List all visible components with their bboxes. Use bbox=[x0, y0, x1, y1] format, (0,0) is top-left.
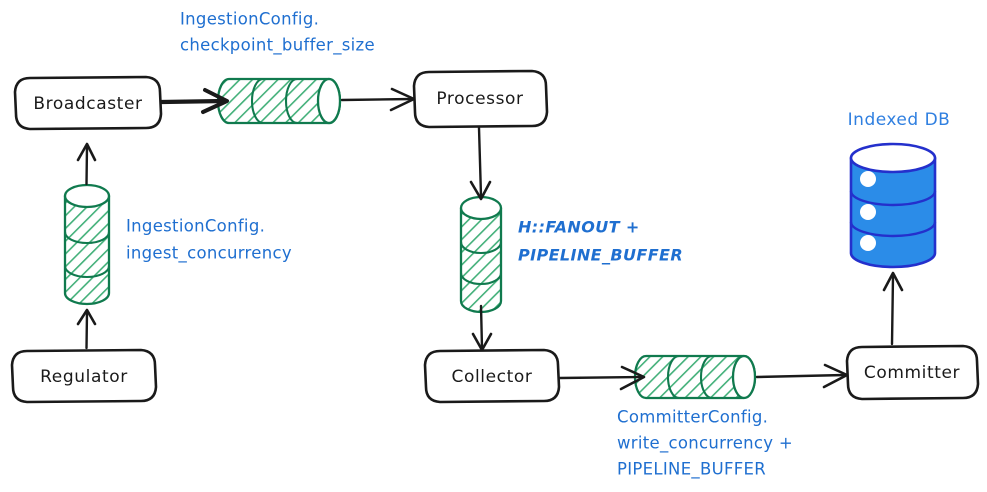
ingest-buffer-top-cap bbox=[65, 185, 109, 207]
buffer-fanout bbox=[461, 197, 501, 312]
annotation-line: IngestionConfig. bbox=[126, 217, 265, 236]
annotation-ingest-concurrency: IngestionConfig. ingest_concurrency bbox=[126, 217, 292, 264]
annotation-line: PIPELINE_BUFFER bbox=[617, 460, 766, 480]
collector-label: Collector bbox=[452, 367, 533, 387]
buffer-write-concurrency bbox=[635, 356, 755, 398]
node-committer[interactable]: Committer bbox=[847, 346, 978, 399]
annotation-write-concurrency: CommitterConfig. write_concurrency + PIP… bbox=[617, 408, 793, 480]
annotation-line: write_concurrency + bbox=[617, 434, 793, 454]
edge-line bbox=[162, 101, 224, 102]
node-broadcaster[interactable]: Broadcaster bbox=[15, 77, 161, 129]
edge-broadcaster-to-checkpoint bbox=[162, 90, 227, 112]
node-collector[interactable]: Collector bbox=[425, 350, 559, 402]
edge-processor-to-fanout bbox=[471, 128, 490, 199]
indexed-db-indicator-dot-1 bbox=[860, 171, 876, 187]
indexed-db-indicator-dot-2 bbox=[860, 204, 876, 220]
indexed-db-cylinder[interactable] bbox=[851, 144, 935, 267]
annotation-line: CommitterConfig. bbox=[617, 408, 768, 427]
buffer-ingest-concurrency bbox=[65, 185, 109, 304]
diagram-canvas: Broadcaster Processor Regulator Collecto… bbox=[0, 0, 987, 492]
node-regulator[interactable]: Regulator bbox=[12, 350, 156, 402]
annotation-line: ingest_concurrency bbox=[126, 244, 292, 264]
edge-line bbox=[87, 312, 88, 348]
edge-line bbox=[560, 377, 642, 378]
processor-label: Processor bbox=[436, 89, 523, 109]
edge-line bbox=[481, 306, 482, 348]
buffer-checkpoint bbox=[218, 79, 340, 123]
broadcaster-label: Broadcaster bbox=[33, 94, 142, 114]
fanout-buffer-body bbox=[461, 208, 501, 312]
annotation-fanout-pipeline-buffer: H::FANOUT + PIPELINE_BUFFER bbox=[518, 218, 683, 265]
ingest-buffer-body bbox=[65, 196, 109, 304]
edge-regulator-to-ingest-buffer bbox=[78, 310, 95, 348]
edge-committer-to-indexed-db bbox=[884, 273, 902, 344]
node-processor[interactable]: Processor bbox=[414, 71, 547, 127]
annotation-line: H::FANOUT + bbox=[518, 218, 640, 237]
annotation-line: IngestionConfig. bbox=[180, 10, 319, 29]
edge-write-buffer-to-committer bbox=[757, 365, 847, 387]
regulator-label: Regulator bbox=[40, 367, 128, 387]
edge-collector-to-write-buffer bbox=[560, 367, 644, 389]
edge-line bbox=[479, 128, 481, 196]
pipeline-diagram: Broadcaster Processor Regulator Collecto… bbox=[0, 0, 987, 492]
write-buffer-end-cap bbox=[733, 356, 755, 398]
edge-line bbox=[892, 276, 893, 344]
committer-label: Committer bbox=[864, 363, 960, 383]
indexed-db-indicator-dot-3 bbox=[860, 235, 876, 251]
annotation-line: checkpoint_buffer_size bbox=[180, 36, 375, 56]
edge-checkpoint-to-processor bbox=[342, 89, 414, 110]
indexed-db-top-cap bbox=[851, 144, 935, 172]
edge-ingest-buffer-to-broadcaster bbox=[78, 144, 95, 184]
indexed-db-label: Indexed DB bbox=[848, 110, 951, 130]
edge-line bbox=[757, 375, 845, 377]
edge-line bbox=[87, 146, 88, 184]
annotation-line: PIPELINE_BUFFER bbox=[518, 246, 683, 265]
edge-line bbox=[342, 99, 412, 100]
checkpoint-buffer-end-cap bbox=[318, 79, 340, 123]
annotation-checkpoint-buffer-size: IngestionConfig. checkpoint_buffer_size bbox=[180, 10, 375, 56]
